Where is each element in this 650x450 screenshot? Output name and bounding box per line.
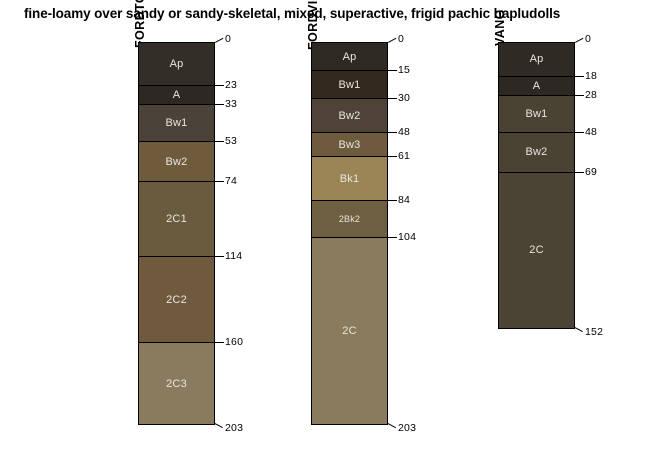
horizon-label: Ap	[343, 51, 357, 63]
horizon-label: Bw1	[526, 108, 548, 120]
horizon-label: A	[533, 80, 541, 92]
depth-tick-mark	[388, 38, 396, 43]
horizon-ap: Ap	[312, 43, 387, 71]
depth-tick-label: 74	[225, 175, 237, 187]
horizon-label: Bw3	[339, 139, 361, 151]
profile-column: ApABw1Bw22C	[498, 42, 575, 329]
depth-tick-mark	[215, 256, 224, 257]
depth-tick-label: 0	[585, 33, 591, 45]
depth-tick-label: 23	[225, 79, 237, 91]
depth-tick-label: 152	[585, 326, 603, 338]
depth-tick-label: 84	[398, 194, 410, 206]
horizon-label: 2Bk2	[339, 214, 360, 224]
depth-tick-label: 33	[225, 98, 237, 110]
depth-tick-label: 15	[398, 64, 410, 76]
depth-tick-label: 48	[585, 126, 597, 138]
depth-tick-label: 48	[398, 126, 410, 138]
depth-tick-label: 203	[225, 422, 243, 434]
depth-tick-label: 160	[225, 336, 243, 348]
depth-tick-label: 114	[225, 250, 242, 262]
horizon-a: A	[499, 77, 574, 96]
depth-tick-mark	[215, 342, 224, 343]
horizon-label: Ap	[170, 58, 184, 70]
horizon-label: 2C2	[166, 294, 187, 306]
horizon-bw1: Bw1	[139, 105, 214, 143]
horizon-a: A	[139, 86, 214, 105]
depth-tick-label: 0	[225, 33, 231, 45]
depth-tick-mark	[575, 132, 584, 133]
horizon-label: 2C	[342, 325, 356, 337]
depth-tick-label: 61	[398, 150, 410, 162]
depth-tick-mark	[215, 85, 224, 86]
horizon-label: 2C1	[166, 213, 187, 225]
horizon-bk1: Bk1	[312, 157, 387, 200]
depth-tick-label: 203	[398, 422, 416, 434]
horizon-label: 2C3	[166, 378, 187, 390]
depth-tick-label: 28	[585, 89, 597, 101]
depth-tick-mark	[388, 423, 396, 428]
depth-tick-label: 53	[225, 135, 237, 147]
page-title: fine-loamy over sandy or sandy-skeletal,…	[24, 6, 560, 21]
depth-tick-mark	[575, 95, 584, 96]
depth-tick-mark	[575, 76, 584, 77]
depth-tick-mark	[388, 132, 397, 133]
horizon-bw2: Bw2	[139, 142, 214, 181]
depth-tick-mark	[388, 156, 397, 157]
horizon-bw1: Bw1	[499, 96, 574, 134]
horizon-label: 2C	[529, 244, 543, 256]
depth-tick-label: 69	[585, 166, 597, 178]
horizon-2c3: 2C3	[139, 343, 214, 424]
horizon-bw2: Bw2	[499, 133, 574, 172]
horizon-bw1: Bw1	[312, 71, 387, 99]
depth-tick-label: 18	[585, 70, 597, 82]
horizon-bw3: Bw3	[312, 133, 387, 157]
soil-profile-figure: fine-loamy over sandy or sandy-skeletal,…	[0, 0, 650, 450]
horizon-ap: Ap	[139, 43, 214, 86]
horizon-label: Bw2	[339, 110, 361, 122]
profile-name-label: FORDTOWN	[133, 0, 147, 48]
depth-tick-mark	[388, 237, 397, 238]
depth-tick-mark	[215, 38, 223, 43]
depth-tick-mark	[575, 172, 584, 173]
depth-tick-mark	[215, 423, 223, 428]
depth-tick-mark	[215, 141, 224, 142]
horizon-2c1: 2C1	[139, 182, 214, 257]
horizon-label: Ap	[530, 53, 544, 65]
horizon-bw2: Bw2	[312, 99, 387, 133]
horizon-label: A	[173, 89, 181, 101]
horizon-label: Bw1	[339, 79, 361, 91]
depth-tick-label: 30	[398, 92, 410, 104]
depth-tick-mark	[388, 200, 397, 201]
horizon-2c: 2C	[312, 238, 387, 424]
depth-tick-mark	[215, 104, 224, 105]
depth-tick-mark	[388, 98, 397, 99]
depth-tick-mark	[215, 181, 224, 182]
depth-tick-label: 104	[398, 231, 416, 243]
depth-tick-mark	[575, 327, 583, 332]
profile-column: ApABw1Bw22C12C22C3	[138, 42, 215, 425]
horizon-label: Bk1	[340, 173, 360, 185]
profile-name-label: VANG	[493, 9, 507, 46]
depth-tick-mark	[388, 70, 397, 71]
horizon-2c2: 2C2	[139, 257, 214, 343]
depth-tick-mark	[575, 38, 583, 43]
horizon-2c: 2C	[499, 173, 574, 329]
depth-tick-label: 0	[398, 33, 404, 45]
horizon-label: Bw1	[166, 117, 188, 129]
profile-column: ApBw1Bw2Bw3Bk12Bk22C	[311, 42, 388, 425]
horizon-2bk2: 2Bk2	[312, 201, 387, 239]
horizon-label: Bw2	[526, 146, 548, 158]
horizon-ap: Ap	[499, 43, 574, 77]
horizon-label: Bw2	[166, 156, 188, 168]
